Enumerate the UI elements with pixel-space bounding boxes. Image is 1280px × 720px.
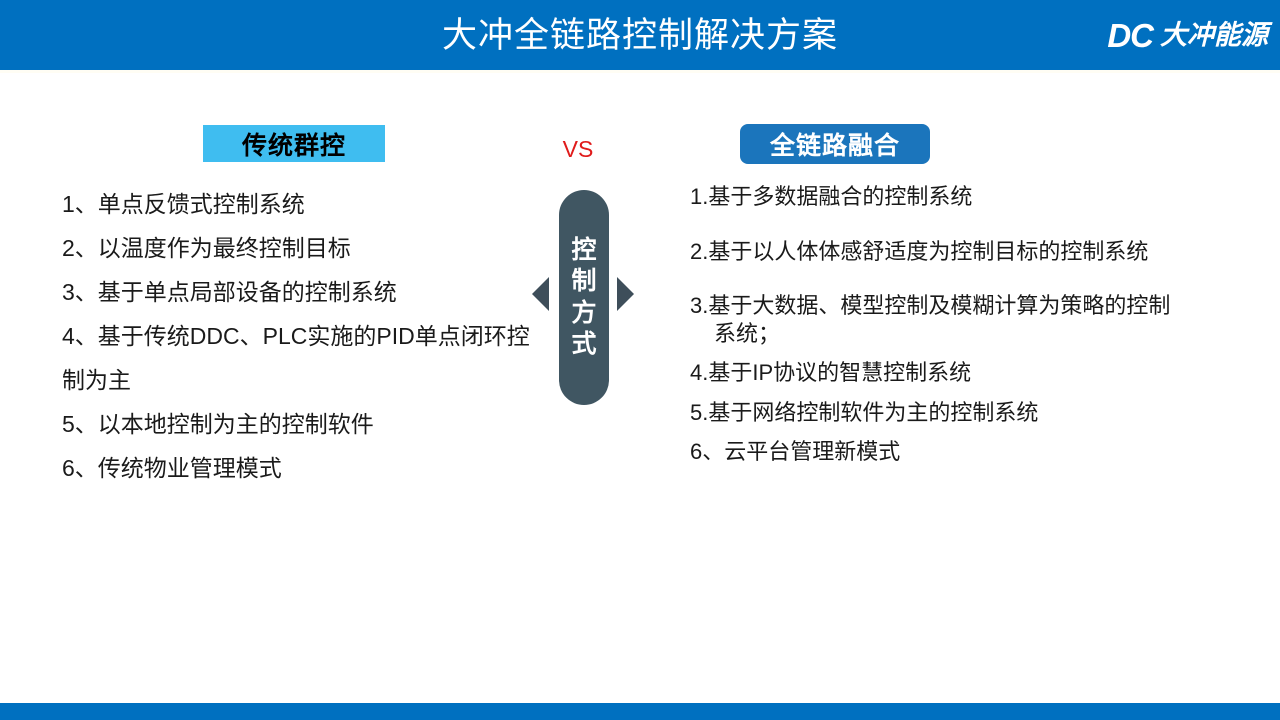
list-item-number: 5. bbox=[690, 400, 708, 425]
left-panel-badge: 传统群控 bbox=[203, 125, 385, 162]
list-item-number: 1. bbox=[690, 184, 708, 209]
list-item-number: 6、 bbox=[690, 439, 724, 464]
list-item: 3.基于大数据、模型控制及模糊计算为策略的控制 系统； bbox=[690, 292, 1280, 347]
list-item-text: 基于以人体体感舒适度为控制目标的控制系统 bbox=[708, 239, 1148, 264]
list-item: 2.基于以人体体感舒适度为控制目标的控制系统 bbox=[690, 238, 1280, 266]
header-underline bbox=[0, 70, 1280, 73]
control-method-char: 控 bbox=[571, 236, 596, 266]
list-item-number: 3. bbox=[690, 293, 708, 318]
brand-mark-dc: DC bbox=[1107, 19, 1153, 52]
control-method-badge: 控 制 方 式 bbox=[559, 190, 609, 405]
list-item: 1、单点反馈式控制系统 bbox=[62, 182, 532, 226]
page-title: 大冲全链路控制解决方案 bbox=[0, 0, 1280, 70]
list-item: 5、以本地控制为主的控制软件 bbox=[62, 402, 532, 446]
list-item: 3、基于单点局部设备的控制系统 bbox=[62, 270, 532, 314]
list-item-text: 基于大数据、模型控制及模糊计算为策略的控制 bbox=[708, 293, 1170, 318]
list-item-text: 云平台管理新模式 bbox=[724, 439, 900, 464]
list-item: 2、以温度作为最终控制目标 bbox=[62, 226, 532, 270]
list-item-number: 4. bbox=[690, 360, 708, 385]
footer-bar bbox=[0, 703, 1280, 720]
brand-name-label: 大冲能源 bbox=[1160, 22, 1268, 49]
list-item: 4.基于IP协议的智慧控制系统 bbox=[690, 359, 1280, 387]
control-method-char: 方 bbox=[571, 299, 596, 329]
control-method-char: 式 bbox=[571, 330, 596, 360]
control-method-char: 制 bbox=[571, 267, 596, 297]
right-panel-list: 1.基于多数据融合的控制系统 2.基于以人体体感舒适度为控制目标的控制系统 3.… bbox=[690, 183, 1280, 478]
triangle-left-icon bbox=[532, 277, 549, 311]
list-item: 6、云平台管理新模式 bbox=[690, 438, 1280, 466]
brand-logo: DC 大冲能源 bbox=[1107, 13, 1268, 57]
vs-label: VS bbox=[548, 138, 608, 161]
list-item: 5.基于网络控制软件为主的控制系统 bbox=[690, 399, 1280, 427]
list-item-text: 基于多数据融合的控制系统 bbox=[708, 184, 972, 209]
list-item-text: 基于网络控制软件为主的控制系统 bbox=[708, 400, 1038, 425]
list-item-continuation: 系统； bbox=[690, 320, 1280, 348]
left-panel-list: 1、单点反馈式控制系统 2、以温度作为最终控制目标 3、基于单点局部设备的控制系… bbox=[62, 182, 532, 490]
triangle-right-icon bbox=[617, 277, 634, 311]
list-item-text: 基于IP协议的智慧控制系统 bbox=[708, 360, 971, 385]
list-item: 1.基于多数据融合的控制系统 bbox=[690, 183, 1280, 211]
right-panel-badge: 全链路融合 bbox=[740, 124, 930, 164]
list-item: 4、基于传统DDC、PLC实施的PID单点闭环控制为主 bbox=[62, 314, 532, 402]
list-item-number: 2. bbox=[690, 239, 708, 264]
list-item: 6、传统物业管理模式 bbox=[62, 446, 532, 490]
